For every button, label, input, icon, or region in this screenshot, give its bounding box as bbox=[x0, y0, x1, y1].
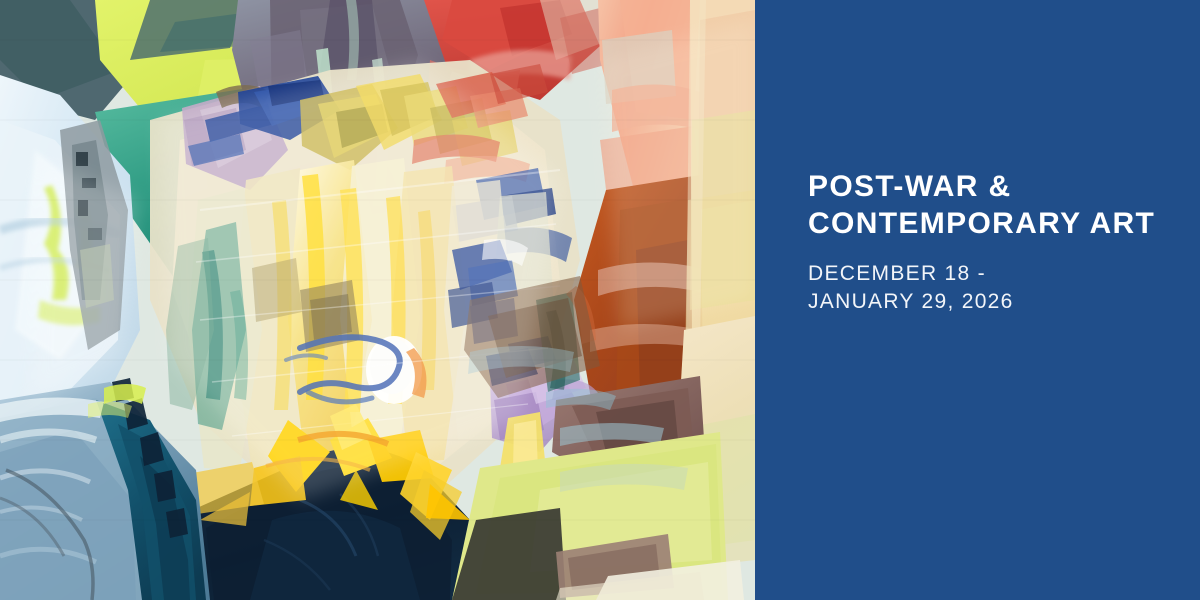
page-title: Post-War & Contemporary Art bbox=[808, 168, 1180, 242]
info-text-block: Post-War & Contemporary Art December 18 … bbox=[808, 168, 1180, 316]
abstract-painting-canvas bbox=[0, 0, 755, 600]
auction-banner: Post-War & Contemporary Art December 18 … bbox=[0, 0, 1200, 600]
exhibition-dates: December 18 - January 29, 2026 bbox=[808, 242, 1180, 316]
artwork-image bbox=[0, 0, 755, 600]
auction-info-panel: Post-War & Contemporary Art December 18 … bbox=[755, 0, 1200, 600]
